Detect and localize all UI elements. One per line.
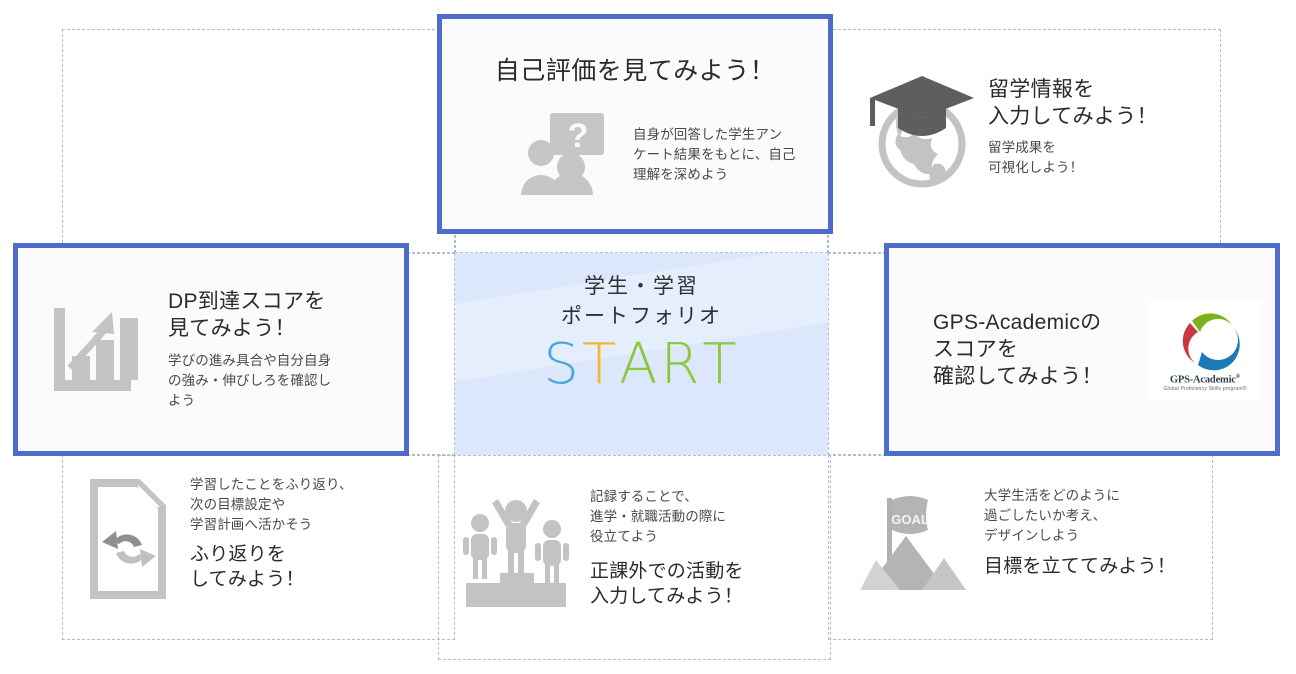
portfolio-diagram: 学生・学習 ポートフォリオ START 自己評価を見てみよう！ ? [0,0,1296,674]
start-letter-t2: T [702,337,739,393]
mountain-goal-flag-icon: GOAL [860,484,966,590]
goals-text: 大学生活をどのように 過ごしたいか考え、 デザインしよう 目標を立ててみよう！ [984,486,1176,579]
dp-score-text: DP到達スコアを 見てみよう！ 学びの進み具合や自分自身 の強み・伸びしろを確認… [168,288,331,412]
goals-description: 大学生活をどのように 過ごしたいか考え、 デザインしよう [984,486,1176,546]
panel-extracurricular[interactable]: 記録することで、 進学・就職活動の際に 役立てよう 正課外での活動を 入力してみ… [462,483,822,643]
extracurricular-text: 記録することで、 進学・就職活動の際に 役立てよう 正課外での活動を 入力してみ… [590,487,744,609]
extracurricular-description: 記録することで、 進学・就職活動の際に 役立てよう [590,487,744,547]
start-letter-a: A [619,337,660,393]
hero-heading: 学生・学習 ポートフォリオ [455,272,828,333]
bar-chart-growth-icon [46,302,140,398]
gps-academic-text: GPS-Academicの スコアを 確認してみよう！ [933,309,1149,391]
card-gps-academic[interactable]: GPS-Academicの スコアを 確認してみよう！ GPS-Academic… [884,243,1280,456]
start-letter-t1: T [582,337,619,393]
self-evaluation-title: 自己評価を見てみよう！ [464,55,806,87]
gps-academic-logo-icon: GPS-Academic® Global Proficiency Skills … [1149,300,1261,400]
center-hero: 学生・学習 ポートフォリオ START [455,272,828,393]
study-abroad-title: 留学情報を 入力してみよう！ [988,76,1158,131]
grid-cell-top-left [62,29,455,253]
goals-title: 目標を立ててみよう！ [984,554,1176,579]
gps-academic-logo-tagline: Global Proficiency Skills program® [1163,386,1246,392]
start-letter-r: R [660,337,702,393]
start-letter-s: S [543,337,582,393]
gps-academic-title: GPS-Academicの スコアを 確認してみよう！ [933,309,1149,391]
panel-reflection[interactable]: 学習したことをふり返り、 次の目標設定や 学習計画へ活かそう ふり返りを してみ… [86,475,436,625]
dp-score-description: 学びの進み具合や自分自身 の強み・伸びしろを確認し よう [168,351,331,411]
reflection-text: 学習したことをふり返り、 次の目標設定や 学習計画へ活かそう ふり返りを してみ… [190,475,353,592]
panel-study-abroad[interactable]: 留学情報を 入力してみよう！ 留学成果を 可視化しよう！ [868,68,1213,218]
document-refresh-icon [86,479,174,599]
card-dp-score[interactable]: DP到達スコアを 見てみよう！ 学びの進み具合や自分自身 の強み・伸びしろを確認… [13,243,409,456]
podium-winner-icon [462,489,570,607]
reflection-title: ふり返りを してみよう！ [190,542,353,592]
panel-goals[interactable]: GOAL 大学生活をどのように 過ごしたいか考え、 デザインしよう 目標を立てて… [860,480,1215,630]
extracurricular-title: 正課外での活動を 入力してみよう！ [590,559,744,609]
self-evaluation-description: 自身が回答した学生アン ケート結果をもとに、自己 理解を深めよう [633,125,796,185]
speech-bubble-question-people-icon: ? [519,109,611,195]
study-abroad-text: 留学情報を 入力してみよう！ 留学成果を 可視化しよう！ [988,76,1158,178]
start-wordmark: START [455,337,828,393]
svg-text:GOAL: GOAL [891,512,929,527]
svg-text:?: ? [568,117,589,155]
dp-score-title: DP到達スコアを 見てみよう！ [168,288,331,343]
reflection-description: 学習したことをふり返り、 次の目標設定や 学習計画へ活かそう [190,475,353,535]
gps-academic-logo-name: GPS-Academic® [1170,374,1240,386]
card-self-evaluation[interactable]: 自己評価を見てみよう！ ? 自身が回答した学生アン ケート結果をもとに、自己 理… [437,14,833,234]
study-abroad-description: 留学成果を 可視化しよう！ [988,138,1158,178]
graduation-cap-globe-icon [868,68,976,194]
